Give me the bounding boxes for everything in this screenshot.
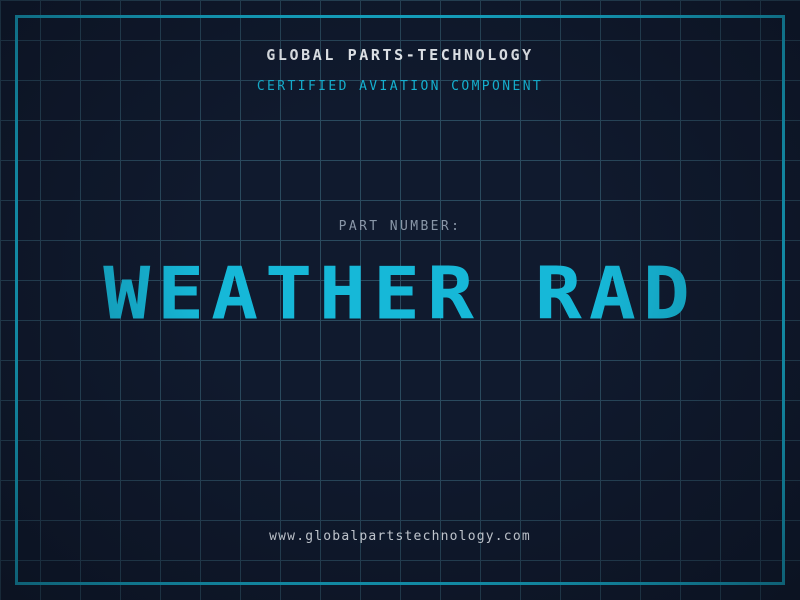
component-spec-plate: GLOBAL PARTS-TECHNOLOGY CERTIFIED AVIATI… (0, 0, 800, 600)
part-number-label: PART NUMBER: (0, 219, 800, 234)
footer-website-url: www.globalpartstechnology.com (0, 529, 800, 544)
certification-subtitle: CERTIFIED AVIATION COMPONENT (0, 79, 800, 94)
company-title: GLOBAL PARTS-TECHNOLOGY (0, 46, 800, 64)
part-number-value: WEATHER RAD (0, 258, 800, 332)
